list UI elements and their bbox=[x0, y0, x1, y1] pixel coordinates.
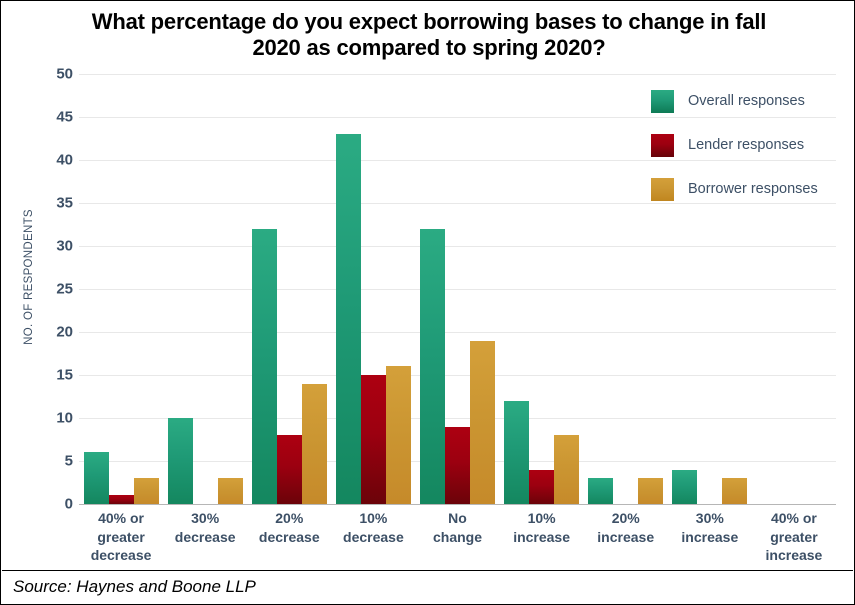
gridline bbox=[79, 504, 836, 505]
chart-title-line-2: 2020 as compared to spring 2020? bbox=[19, 35, 839, 61]
chart-container: What percentage do you expect borrowing … bbox=[0, 0, 855, 605]
bar[interactable] bbox=[722, 478, 747, 504]
x-axis-tick-line: greater bbox=[752, 528, 836, 547]
y-axis-tick-label: 10 bbox=[33, 410, 73, 427]
y-axis-ticks: 50454035302520151050 bbox=[27, 74, 73, 504]
x-axis-tick-line: 10% bbox=[331, 509, 415, 528]
x-axis-tick-line: 10% bbox=[500, 509, 584, 528]
legend-label: Borrower responses bbox=[688, 181, 818, 197]
chart-title-line-1: What percentage do you expect borrowing … bbox=[19, 9, 839, 35]
legend-swatch-icon bbox=[651, 178, 674, 201]
bar-group bbox=[415, 74, 499, 504]
bar[interactable] bbox=[445, 427, 470, 504]
x-axis-tick-line: greater bbox=[79, 528, 163, 547]
bar[interactable] bbox=[109, 495, 134, 504]
chart-legend: Overall responsesLender responsesBorrowe… bbox=[651, 79, 841, 211]
bar[interactable] bbox=[277, 435, 302, 504]
x-axis-tick-line: 40% or bbox=[752, 509, 836, 528]
bar[interactable] bbox=[470, 341, 495, 504]
x-axis-tick-line: decrease bbox=[79, 546, 163, 565]
bar[interactable] bbox=[504, 401, 529, 504]
x-axis-tick-line: 30% bbox=[668, 509, 752, 528]
chart-title: What percentage do you expect borrowing … bbox=[19, 9, 839, 62]
x-axis-tick-line: increase bbox=[752, 546, 836, 565]
x-axis-tick-line: decrease bbox=[163, 528, 247, 547]
y-axis-tick-label: 35 bbox=[33, 195, 73, 212]
x-axis-tick-label: 30%decrease bbox=[163, 509, 247, 546]
x-axis-tick-line: change bbox=[415, 528, 499, 547]
x-axis-tick-line: 20% bbox=[247, 509, 331, 528]
bar[interactable] bbox=[554, 435, 579, 504]
bar[interactable] bbox=[638, 478, 663, 504]
x-axis-tick-line: increase bbox=[584, 528, 668, 547]
x-axis-tick-label: 20%increase bbox=[584, 509, 668, 546]
bar[interactable] bbox=[252, 229, 277, 504]
y-axis-tick-label: 20 bbox=[33, 324, 73, 341]
x-axis-tick-line: 30% bbox=[163, 509, 247, 528]
x-axis-tick-label: 40% orgreaterdecrease bbox=[79, 509, 163, 565]
bar-group bbox=[331, 74, 415, 504]
x-axis-tick-line: decrease bbox=[247, 528, 331, 547]
x-axis-tick-label: 10%decrease bbox=[331, 509, 415, 546]
bar[interactable] bbox=[336, 134, 361, 504]
legend-entry[interactable]: Overall responses bbox=[651, 79, 841, 123]
y-axis-tick-label: 45 bbox=[33, 109, 73, 126]
legend-swatch-icon bbox=[651, 134, 674, 157]
x-axis-tick-label: 10%increase bbox=[500, 509, 584, 546]
source-divider bbox=[2, 570, 853, 571]
legend-label: Lender responses bbox=[688, 137, 804, 153]
bar[interactable] bbox=[672, 470, 697, 504]
bar-group bbox=[79, 74, 163, 504]
bar[interactable] bbox=[168, 418, 193, 504]
bar[interactable] bbox=[361, 375, 386, 504]
bar[interactable] bbox=[218, 478, 243, 504]
legend-label: Overall responses bbox=[688, 93, 805, 109]
y-axis-tick-label: 30 bbox=[33, 238, 73, 255]
y-axis-tick-label: 15 bbox=[33, 367, 73, 384]
y-axis-tick-label: 0 bbox=[33, 496, 73, 513]
bar[interactable] bbox=[302, 384, 327, 504]
bar[interactable] bbox=[134, 478, 159, 504]
y-axis-tick-label: 40 bbox=[33, 152, 73, 169]
x-axis-tick-label: 20%decrease bbox=[247, 509, 331, 546]
bar[interactable] bbox=[529, 470, 554, 504]
x-axis-tick-label: Nochange bbox=[415, 509, 499, 546]
x-axis-tick-line: 40% or bbox=[79, 509, 163, 528]
legend-entry[interactable]: Borrower responses bbox=[651, 167, 841, 211]
y-axis-tick-label: 50 bbox=[33, 66, 73, 83]
x-axis-tick-line: decrease bbox=[331, 528, 415, 547]
bar[interactable] bbox=[386, 366, 411, 504]
bar-group bbox=[163, 74, 247, 504]
x-axis-tick-line: increase bbox=[500, 528, 584, 547]
bar[interactable] bbox=[84, 452, 109, 504]
x-axis-tick-line: No bbox=[415, 509, 499, 528]
legend-swatch-icon bbox=[651, 90, 674, 113]
bar-group bbox=[247, 74, 331, 504]
bar-group bbox=[500, 74, 584, 504]
source-note: Source: Haynes and Boone LLP bbox=[13, 577, 256, 597]
bar[interactable] bbox=[588, 478, 613, 504]
x-axis-tick-line: increase bbox=[668, 528, 752, 547]
bar[interactable] bbox=[420, 229, 445, 504]
y-axis-tick-label: 5 bbox=[33, 453, 73, 470]
x-axis-tick-label: 30%increase bbox=[668, 509, 752, 546]
legend-entry[interactable]: Lender responses bbox=[651, 123, 841, 167]
x-axis-tick-label: 40% orgreaterincrease bbox=[752, 509, 836, 565]
x-axis-labels: 40% orgreaterdecrease30%decrease20%decre… bbox=[79, 509, 836, 571]
x-axis-tick-line: 20% bbox=[584, 509, 668, 528]
y-axis-tick-label: 25 bbox=[33, 281, 73, 298]
